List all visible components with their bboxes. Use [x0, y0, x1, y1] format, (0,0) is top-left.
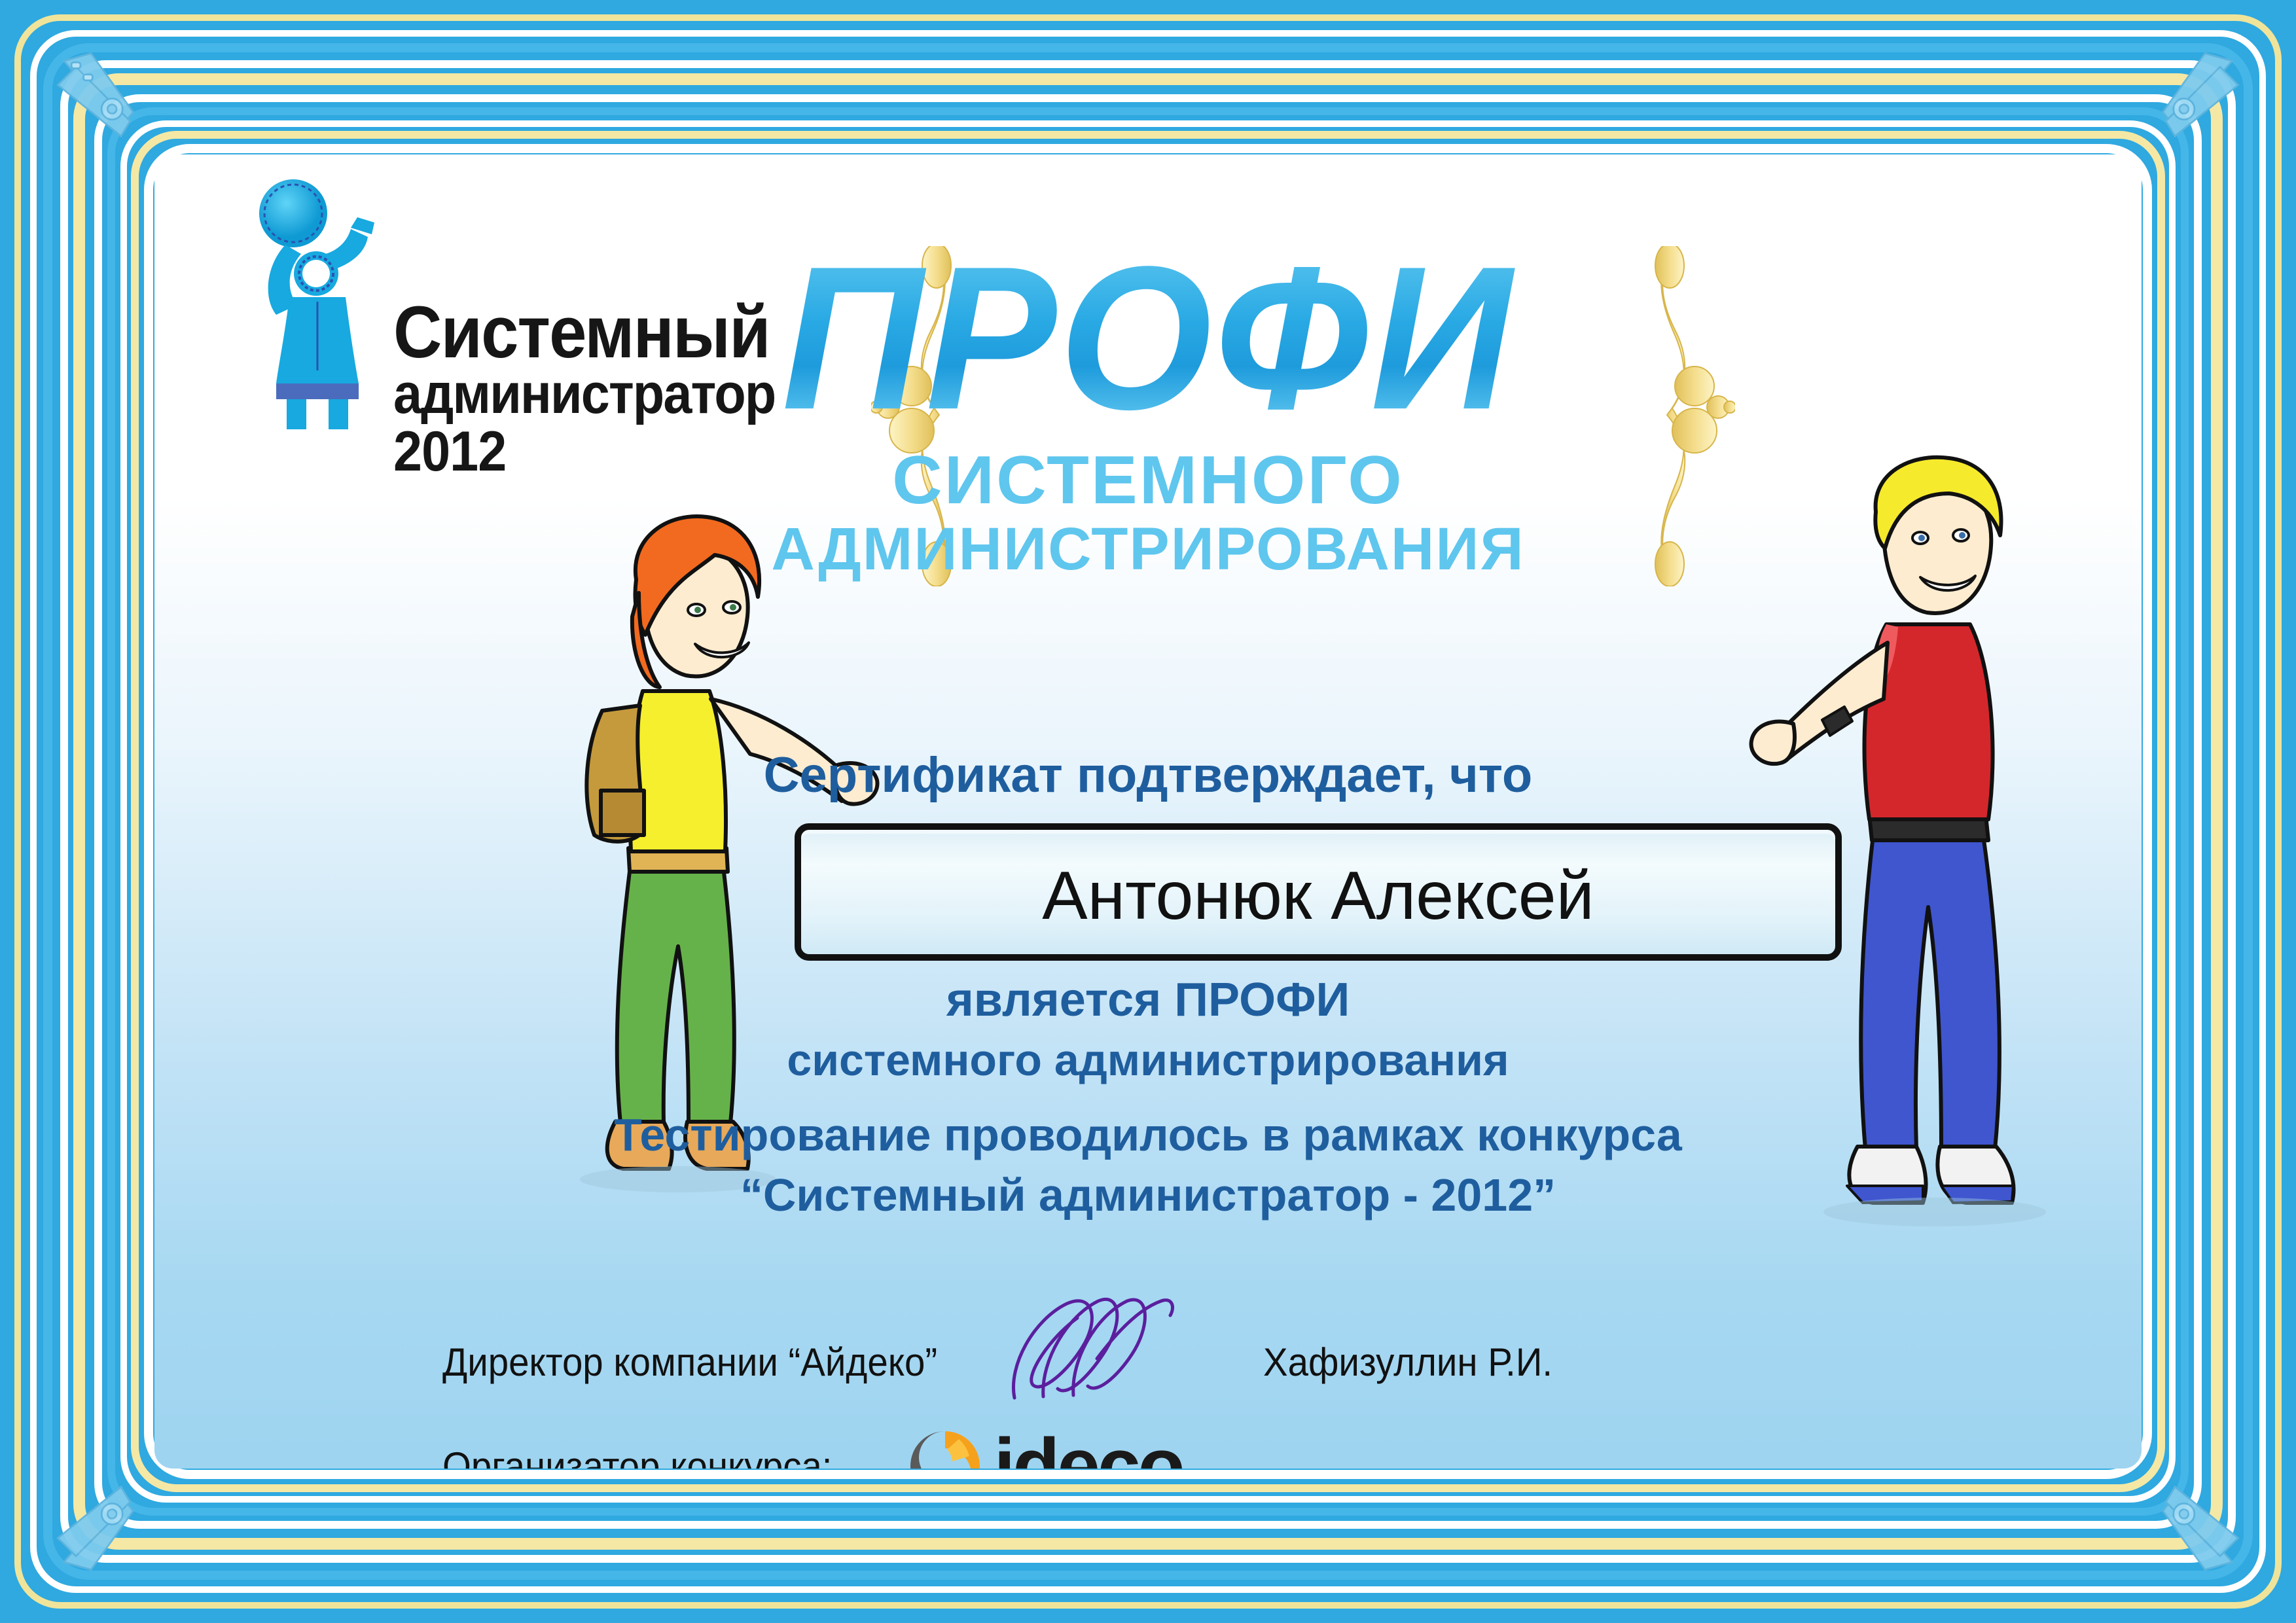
handwritten-signature-icon	[995, 1287, 1191, 1418]
body-line-4: “Системный администратор - 2012”	[154, 1165, 2142, 1225]
gold-bracket-icon	[1637, 246, 1735, 586]
confirm-text: Сертификат подтверждает, что	[154, 747, 2142, 804]
signature-label: Директор компании “Айдеко”	[442, 1340, 937, 1385]
body-line-2: системного администрирования	[154, 1031, 2142, 1090]
body-line-3: Тестирование проводилось в рамках конкур…	[154, 1105, 2142, 1165]
signatory-name: Хафизуллин Р.И.	[1263, 1340, 1552, 1385]
organizer-label: Организатор конкурса:	[442, 1444, 832, 1469]
body-line-1: является ПРОФИ	[154, 969, 2142, 1031]
title-block: ПРОФИ СИСТЕМНОГО АДМИНИСТРИРОВАНИЯ	[703, 240, 1593, 581]
sysadmin-figure-icon	[246, 174, 387, 436]
certificate-page: Системный администратор 2012	[0, 0, 2296, 1623]
recipient-nameplate: Антонюк Алексей	[795, 823, 1842, 961]
ideco-logo: ideco	[906, 1427, 1183, 1469]
ideco-ring-icon	[906, 1427, 984, 1469]
recipient-name: Антонюк Алексей	[1042, 857, 1594, 935]
title-subline-1: СИСТЕМНОГО	[694, 445, 1602, 516]
certificate-canvas: Системный администратор 2012	[154, 154, 2142, 1469]
title-subline-2: АДМИНИСТРИРОВАНИЯ	[703, 518, 1593, 581]
ideco-wordmark: ideco	[994, 1427, 1183, 1469]
page-title: ПРОФИ	[703, 236, 1593, 440]
organizer-row: Организатор конкурса: ideco	[442, 1427, 1183, 1469]
body-text-block: является ПРОФИ системного администрирова…	[154, 969, 2142, 1226]
signature-row: Директор компании “Айдеко” Хафизуллин Р.…	[442, 1306, 1817, 1418]
